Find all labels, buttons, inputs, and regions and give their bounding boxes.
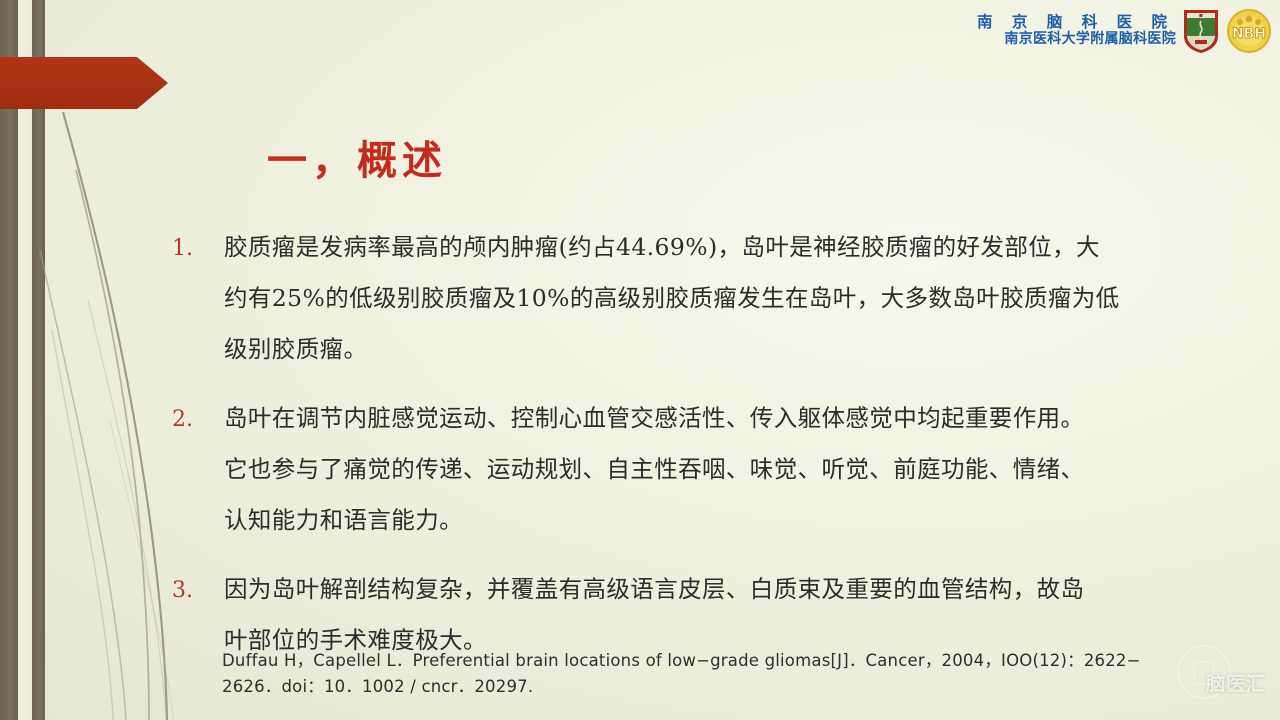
citation-line: Duffau H，Capellel L．Preferential brain l… [222, 648, 1222, 674]
content-list: 1. 胶质瘤是发病率最高的颅内肿瘤(约占44.69%)，岛叶是神经胶质瘤的好发部… [172, 222, 1232, 684]
list-item-line: 约有25%的低级别胶质瘤及10%的高级别胶质瘤发生在岛叶，大多数岛叶胶质瘤为低 [224, 273, 1232, 324]
list-item-line: 胶质瘤是发病率最高的颅内肿瘤(约占44.69%)，岛叶是神经胶质瘤的好发部位，大 [224, 222, 1232, 273]
hospital-crest-icon [1182, 8, 1220, 54]
arrow-banner-shape [0, 57, 168, 109]
header-logo-block: 南 京 脑 科 医 院 南京医科大学附属脑科医院 NBH [977, 8, 1272, 54]
citation-line: 2626．doi：10．1002 / cncr．20297. [222, 674, 1222, 700]
list-item-number: 1. [172, 222, 224, 275]
list-item: 2. 岛叶在调节内脏感觉运动、控制心血管交感活性、传入躯体感觉中均起重要作用。 … [172, 393, 1232, 546]
list-item-line: 认知能力和语言能力。 [224, 495, 1232, 546]
svg-text:NBH: NBH [1232, 26, 1266, 42]
hospital-name-group: 南 京 脑 科 医 院 南京医科大学附属脑科医院 [977, 14, 1176, 47]
list-item-number: 2. [172, 393, 224, 446]
citation-block: Duffau H，Capellel L．Preferential brain l… [222, 648, 1222, 700]
slide-canvas: 南 京 脑 科 医 院 南京医科大学附属脑科医院 NBH 一，概述 [0, 0, 1280, 720]
list-item-line: 岛叶在调节内脏感觉运动、控制心血管交感活性、传入躯体感觉中均起重要作用。 [224, 393, 1232, 444]
list-item: 1. 胶质瘤是发病率最高的颅内肿瘤(约占44.69%)，岛叶是神经胶质瘤的好发部… [172, 222, 1232, 375]
hospital-name-primary: 南 京 脑 科 医 院 [977, 14, 1176, 31]
page-title: 一，概述 [267, 128, 447, 186]
hospital-name-secondary: 南京医科大学附属脑科医院 [1004, 32, 1176, 48]
list-item-line: 级别胶质瘤。 [224, 324, 1232, 375]
list-item-body: 岛叶在调节内脏感觉运动、控制心血管交感活性、传入躯体感觉中均起重要作用。 它也参… [224, 393, 1232, 546]
list-item-line: 因为岛叶解剖结构复杂，并覆盖有高级语言皮层、白质束及重要的血管结构，故岛 [224, 564, 1232, 615]
watermark-label: 脑医汇 [1206, 669, 1266, 696]
list-item-line: 它也参与了痛觉的传递、运动规划、自主性吞咽、味觉、听觉、前庭功能、情绪、 [224, 444, 1232, 495]
nbh-emblem-icon: NBH [1226, 8, 1272, 54]
list-item-number: 3. [172, 564, 224, 617]
list-item-body: 胶质瘤是发病率最高的颅内肿瘤(约占44.69%)，岛叶是神经胶质瘤的好发部位，大… [224, 222, 1232, 375]
